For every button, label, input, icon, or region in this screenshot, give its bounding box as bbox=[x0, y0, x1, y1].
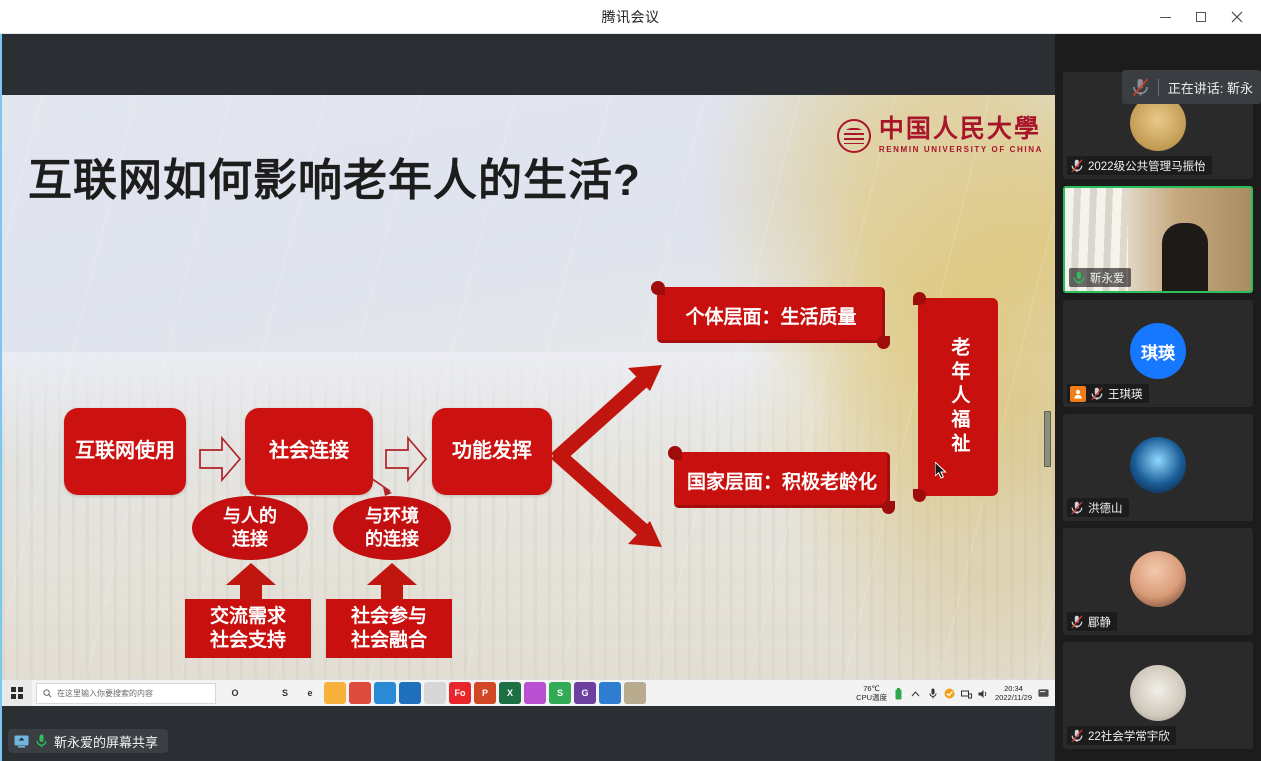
participant-label: 郿静 bbox=[1067, 612, 1117, 631]
host-badge bbox=[1070, 386, 1086, 402]
participant-name: 王琪瑛 bbox=[1108, 386, 1143, 402]
node-connection-environment[interactable]: 与环境 的连接 bbox=[333, 496, 451, 560]
microphone-icon[interactable] bbox=[927, 688, 938, 699]
battery-icon[interactable] bbox=[893, 688, 904, 699]
node-individual-level-label: 个体层面：生活质量 bbox=[685, 302, 856, 329]
maximize-button[interactable] bbox=[1183, 0, 1219, 34]
taskbar-powerpoint-icon[interactable]: P bbox=[474, 682, 496, 704]
participant-label: 靳永爱 bbox=[1069, 268, 1131, 287]
node-connection-people-line2: 连接 bbox=[232, 529, 268, 549]
slide-title: 互联网如何影响老年人的生活? bbox=[28, 144, 641, 208]
node-communication-need-line2: 社会支持 bbox=[210, 630, 286, 651]
taskbar-excel-icon[interactable]: X bbox=[499, 682, 521, 704]
participant-label: 22社会学常宇欣 bbox=[1067, 726, 1176, 745]
node-social-participation-label: 社会参与 社会融合 bbox=[351, 605, 427, 653]
node-connection-people[interactable]: 与人的 连接 bbox=[192, 496, 308, 560]
university-name-en: RENMIN UNIVERSITY OF CHINA bbox=[879, 145, 1043, 154]
node-social-participation[interactable]: 社会参与 社会融合 bbox=[326, 599, 452, 658]
university-seal-icon bbox=[837, 119, 871, 153]
taskbar-google-chrome-icon[interactable] bbox=[349, 682, 371, 704]
node-connection-people-label: 与人的 连接 bbox=[223, 505, 277, 551]
participant-avatar bbox=[1130, 551, 1186, 607]
node-communication-need-line1: 交流需求 bbox=[210, 606, 286, 627]
university-logo: 中国人民大學 RENMIN UNIVERSITY OF CHINA bbox=[837, 117, 1043, 154]
node-elderly-welfare[interactable]: 老年人福祉 bbox=[918, 298, 998, 496]
taskbar-microsoft-store-icon[interactable] bbox=[374, 682, 396, 704]
taskbar-search-input[interactable]: 在这里输入你要搜索的内容 bbox=[36, 683, 216, 704]
meeting-bottom-bar: 靳永爱的屏幕共享 bbox=[2, 706, 1055, 761]
clock-date: 2022/11/29 bbox=[995, 694, 1032, 703]
screen-share-viewport[interactable]: 互联网如何影响老年人的生活? 中国人民大學 RENMIN UNIVERSITY … bbox=[0, 34, 1055, 761]
participant-tile[interactable]: 郿静 bbox=[1063, 528, 1253, 635]
taskbar-wps-pdf-icon[interactable]: G bbox=[574, 682, 596, 704]
maximize-icon bbox=[1196, 12, 1206, 22]
cpu-temperature-indicator[interactable]: 76℃ CPU温度 bbox=[856, 685, 887, 702]
close-button[interactable] bbox=[1219, 0, 1255, 34]
screen-share-status-chip[interactable]: 靳永爱的屏幕共享 bbox=[8, 729, 168, 753]
node-connection-environment-line2: 的连接 bbox=[365, 529, 419, 549]
arrow-to-national-level bbox=[550, 445, 675, 560]
speaking-indicator-label: 正在讲话: 靳永 bbox=[1168, 78, 1253, 97]
taskbar-cortana-icon[interactable]: O bbox=[224, 682, 246, 704]
node-function-play[interactable]: 功能发挥 bbox=[432, 408, 552, 495]
system-tray: 76℃ CPU温度 bbox=[856, 680, 1049, 707]
minimize-button[interactable] bbox=[1147, 0, 1183, 34]
taskbar-calculator-icon[interactable] bbox=[424, 682, 446, 704]
windows-logo-icon bbox=[11, 687, 23, 699]
taskbar-internet-explorer-icon[interactable]: e bbox=[299, 682, 321, 704]
participant-label: 王琪瑛 bbox=[1067, 384, 1149, 403]
participant-name: 2022级公共管理马振怡 bbox=[1088, 158, 1206, 174]
microphone-muted-icon bbox=[1070, 615, 1084, 629]
title-bar: 腾讯会议 bbox=[0, 0, 1261, 34]
taskbar-weather-app-icon[interactable] bbox=[599, 682, 621, 704]
arrow-participate-to-environment bbox=[365, 563, 419, 603]
participant-tile[interactable]: 洪德山 bbox=[1063, 414, 1253, 521]
share-highlight-border bbox=[0, 34, 2, 761]
taskbar-cloud-app-icon[interactable]: S bbox=[274, 682, 296, 704]
node-function-play-label: 功能发挥 bbox=[452, 439, 532, 464]
speaking-indicator-toast: 正在讲话: 靳永 bbox=[1122, 70, 1261, 104]
mouse-cursor-icon bbox=[935, 462, 948, 485]
participant-name: 22社会学常宇欣 bbox=[1088, 728, 1170, 744]
node-social-participation-line1: 社会参与 bbox=[351, 606, 427, 627]
toast-divider bbox=[1158, 79, 1159, 96]
node-communication-need[interactable]: 交流需求 社会支持 bbox=[185, 599, 311, 658]
taskbar-books-app-icon[interactable] bbox=[624, 682, 646, 704]
tencent-meeting-window: 腾讯会议 互联网如何影响老年人的生活? 中国人民大學 bbox=[0, 0, 1261, 761]
remote-desktop: 互联网如何影响老年人的生活? 中国人民大學 RENMIN UNIVERSITY … bbox=[2, 34, 1055, 761]
taskbar-onenote-icon[interactable] bbox=[524, 682, 546, 704]
microphone-on-icon bbox=[1072, 271, 1086, 285]
presentation-slide: 互联网如何影响老年人的生活? 中国人民大學 RENMIN UNIVERSITY … bbox=[2, 95, 1055, 706]
participant-name: 郿静 bbox=[1088, 614, 1111, 630]
node-internet-use-label: 互联网使用 bbox=[75, 439, 175, 464]
participant-tile[interactable]: 22社会学常宇欣 bbox=[1063, 642, 1253, 749]
participant-tile[interactable]: 靳永爱 bbox=[1063, 186, 1253, 293]
microphone-on-icon bbox=[36, 734, 47, 748]
microphone-muted-icon bbox=[1132, 78, 1149, 97]
remote-scrollbar[interactable] bbox=[1044, 411, 1051, 467]
participant-name: 靳永爱 bbox=[1090, 270, 1125, 286]
participant-avatar bbox=[1130, 437, 1186, 493]
action-center-icon[interactable] bbox=[1038, 688, 1049, 699]
taskbar-foxit-reader-icon[interactable]: Fo bbox=[449, 682, 471, 704]
volume-icon[interactable] bbox=[978, 688, 989, 699]
close-icon bbox=[1231, 11, 1243, 23]
node-connection-environment-line1: 与环境 bbox=[365, 506, 419, 526]
taskbar-file-explorer-icon[interactable] bbox=[324, 682, 346, 704]
taskbar-app-icons: OSeFoPXSG bbox=[224, 682, 646, 704]
microphone-muted-icon bbox=[1070, 729, 1084, 743]
remote-taskbar: 在这里输入你要搜索的内容 OSeFoPXSG 76℃ CPU温度 bbox=[2, 679, 1055, 706]
participant-silhouette bbox=[1162, 223, 1208, 291]
node-internet-use[interactable]: 互联网使用 bbox=[64, 408, 186, 495]
node-national-level-label: 国家层面：积极老龄化 bbox=[687, 467, 877, 494]
taskbar-search-placeholder: 在这里输入你要搜索的内容 bbox=[57, 688, 153, 699]
microphone-muted-icon bbox=[1070, 159, 1084, 173]
node-social-connection-label: 社会连接 bbox=[269, 439, 349, 464]
participant-label: 2022级公共管理马振怡 bbox=[1067, 156, 1212, 175]
screen-share-status-label: 靳永爱的屏幕共享 bbox=[54, 732, 158, 751]
search-icon bbox=[43, 689, 52, 698]
taskbar-task-view-icon[interactable] bbox=[249, 682, 271, 704]
taskbar-mail-icon[interactable] bbox=[399, 682, 421, 704]
start-button[interactable] bbox=[2, 680, 32, 707]
node-elderly-welfare-label: 老年人福祉 bbox=[946, 337, 971, 457]
window-title: 腾讯会议 bbox=[0, 0, 1261, 34]
participant-avatar bbox=[1130, 665, 1186, 721]
participant-label: 洪德山 bbox=[1067, 498, 1129, 517]
screen-share-icon bbox=[14, 735, 29, 748]
update-icon[interactable] bbox=[944, 688, 955, 699]
person-icon bbox=[1073, 389, 1083, 399]
microphone-muted-icon bbox=[1070, 501, 1084, 515]
minimize-icon bbox=[1160, 17, 1171, 18]
node-social-connection[interactable]: 社会连接 bbox=[245, 408, 373, 495]
network-icon[interactable] bbox=[961, 688, 972, 699]
participant-rail[interactable]: 正在讲话: 靳永 2022级公共管理马振怡 靳永爱 琪瑛 王琪瑛 洪德山 bbox=[1055, 34, 1261, 761]
node-connection-people-line1: 与人的 bbox=[223, 506, 277, 526]
participant-tile[interactable]: 琪瑛 王琪瑛 bbox=[1063, 300, 1253, 407]
node-social-participation-line2: 社会融合 bbox=[351, 630, 427, 651]
participant-name: 洪德山 bbox=[1088, 500, 1123, 516]
node-connection-environment-label: 与环境 的连接 bbox=[365, 505, 419, 551]
taskbar-sogou-input-icon[interactable]: S bbox=[549, 682, 571, 704]
node-national-level[interactable]: 国家层面：积极老龄化 bbox=[674, 452, 890, 508]
university-name-cn: 中国人民大學 bbox=[879, 117, 1043, 142]
cpu-temp-label: CPU温度 bbox=[856, 694, 887, 703]
node-communication-need-label: 交流需求 社会支持 bbox=[210, 605, 286, 653]
microphone-muted-icon bbox=[1090, 387, 1104, 401]
participant-avatar: 琪瑛 bbox=[1130, 323, 1186, 379]
show-hidden-icons-chevron-icon[interactable] bbox=[910, 688, 921, 699]
clock[interactable]: 20:34 2022/11/29 bbox=[995, 685, 1032, 702]
node-individual-level[interactable]: 个体层面：生活质量 bbox=[657, 287, 885, 343]
slide-background-photo bbox=[2, 352, 1055, 706]
arrow-need-to-people bbox=[224, 563, 278, 603]
